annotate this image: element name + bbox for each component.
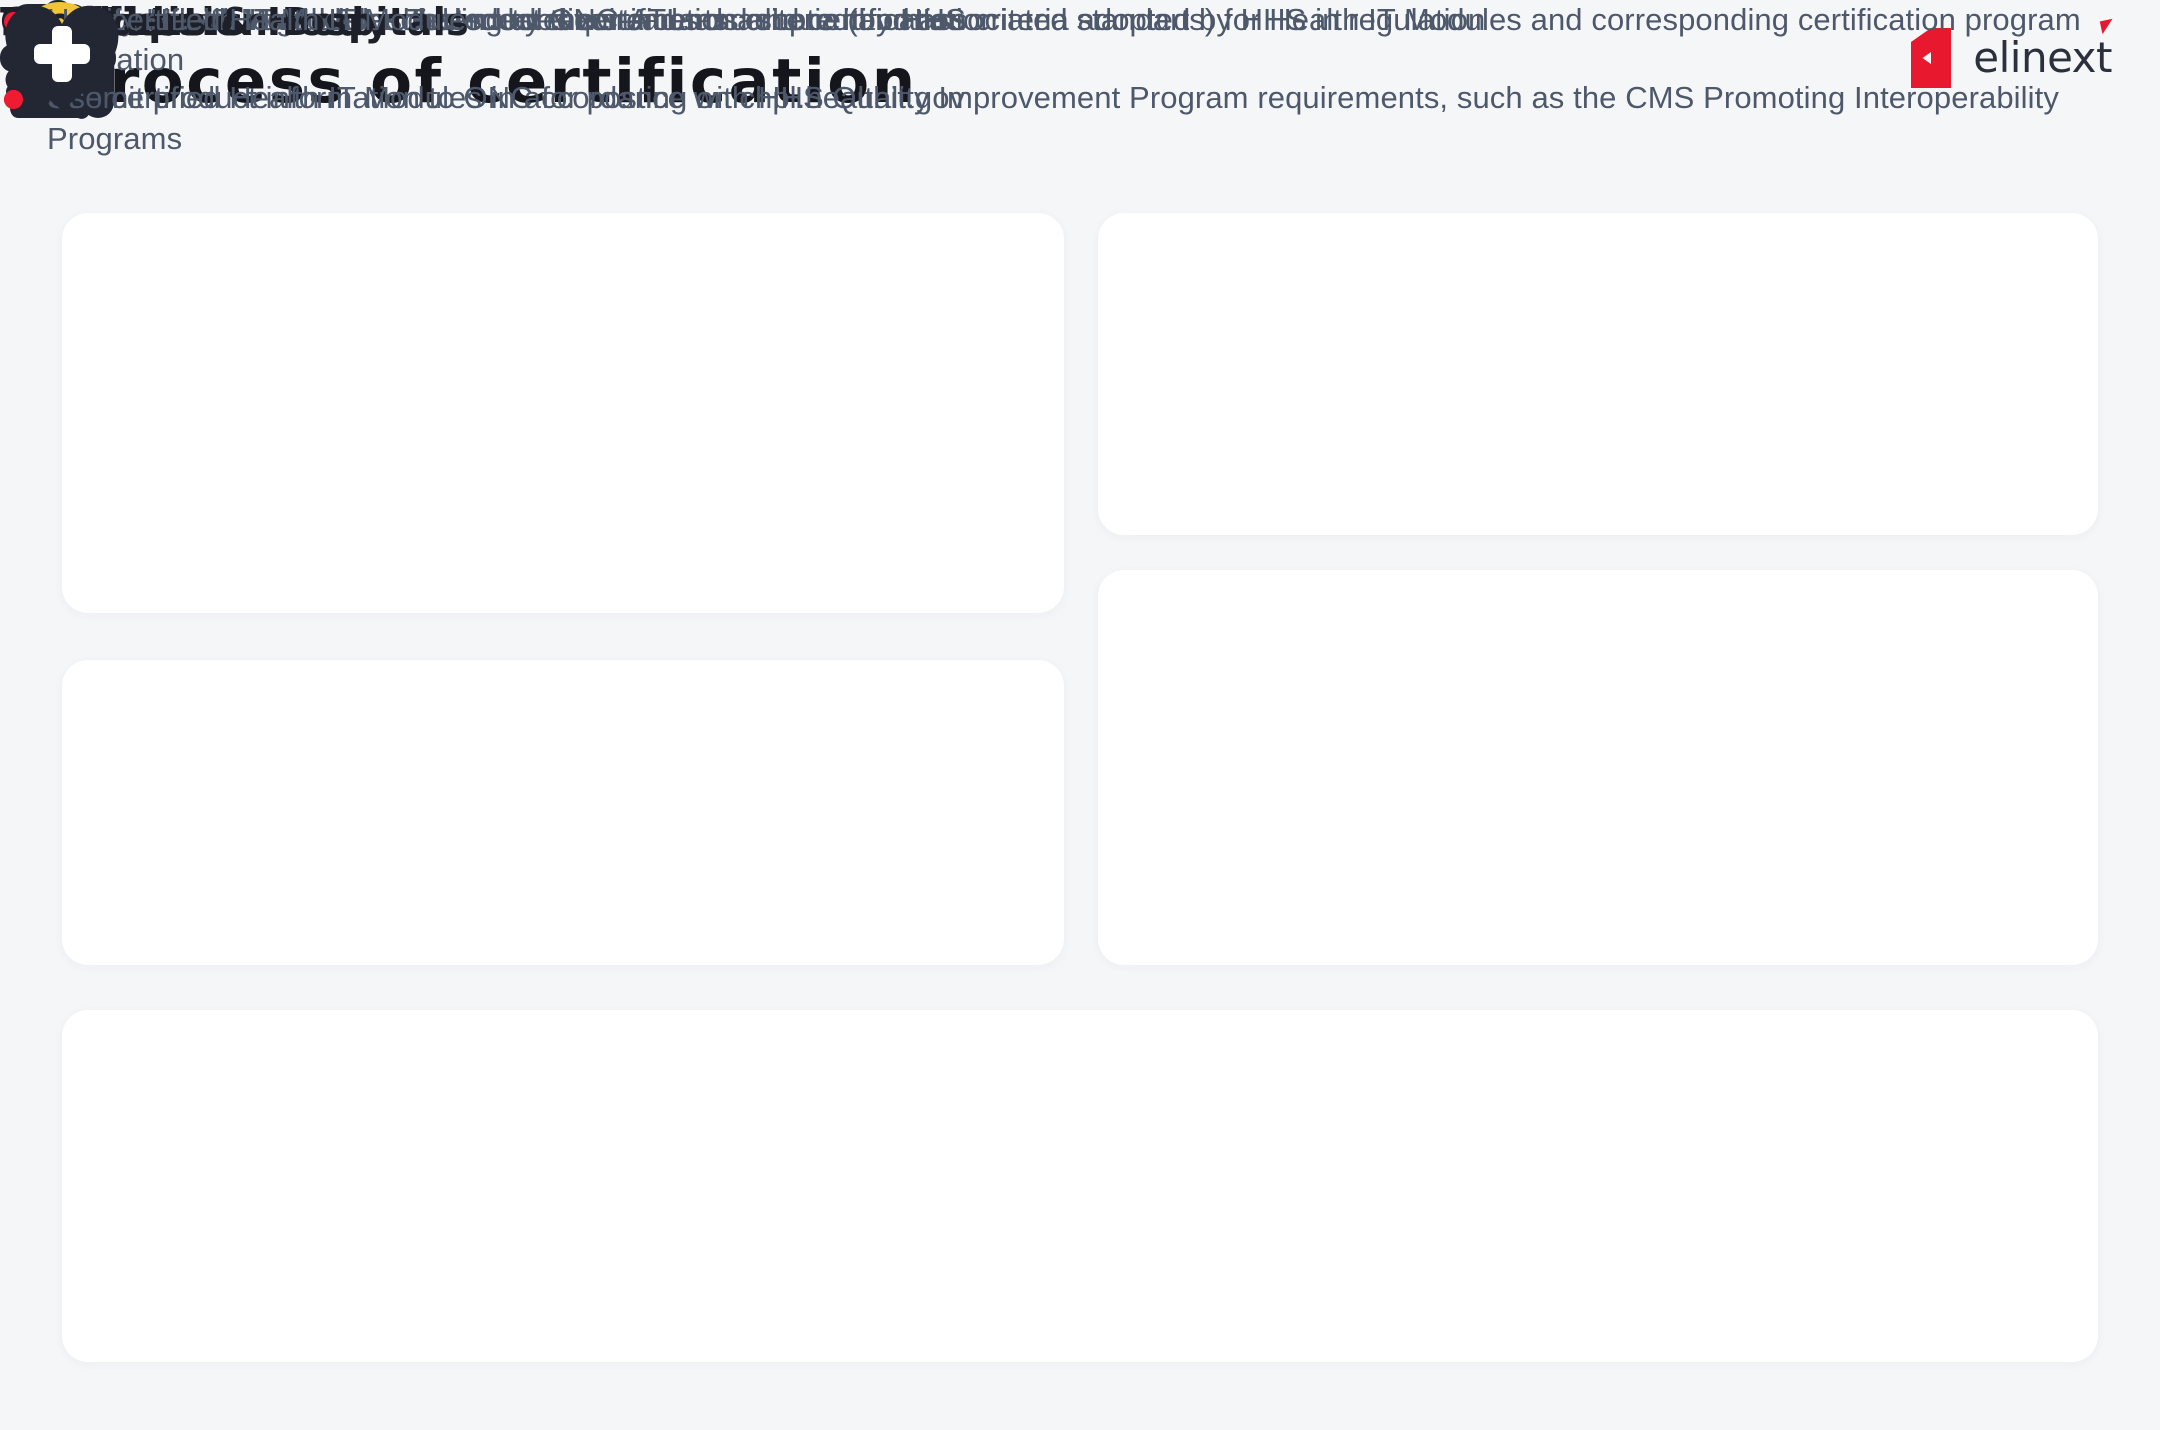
card-providers-hospitals	[62, 1010, 2098, 1362]
infographic-page: Process of certification elinext Regulat…	[0, 0, 2160, 1430]
list-item: Use certified Health IT Modules in accor…	[0, 78, 2160, 159]
card-developers	[1098, 213, 2098, 535]
card-regulation	[62, 213, 1064, 613]
list-item: Use certified Health IT Modules to deliv…	[0, 0, 2160, 40]
heart-plus-icon	[0, 0, 124, 116]
card-test-labs	[62, 660, 1064, 965]
card-providers-hospitals-bullets: Use certified Health IT Modules to deliv…	[0, 0, 2160, 159]
card-certification-body	[1098, 570, 2098, 965]
